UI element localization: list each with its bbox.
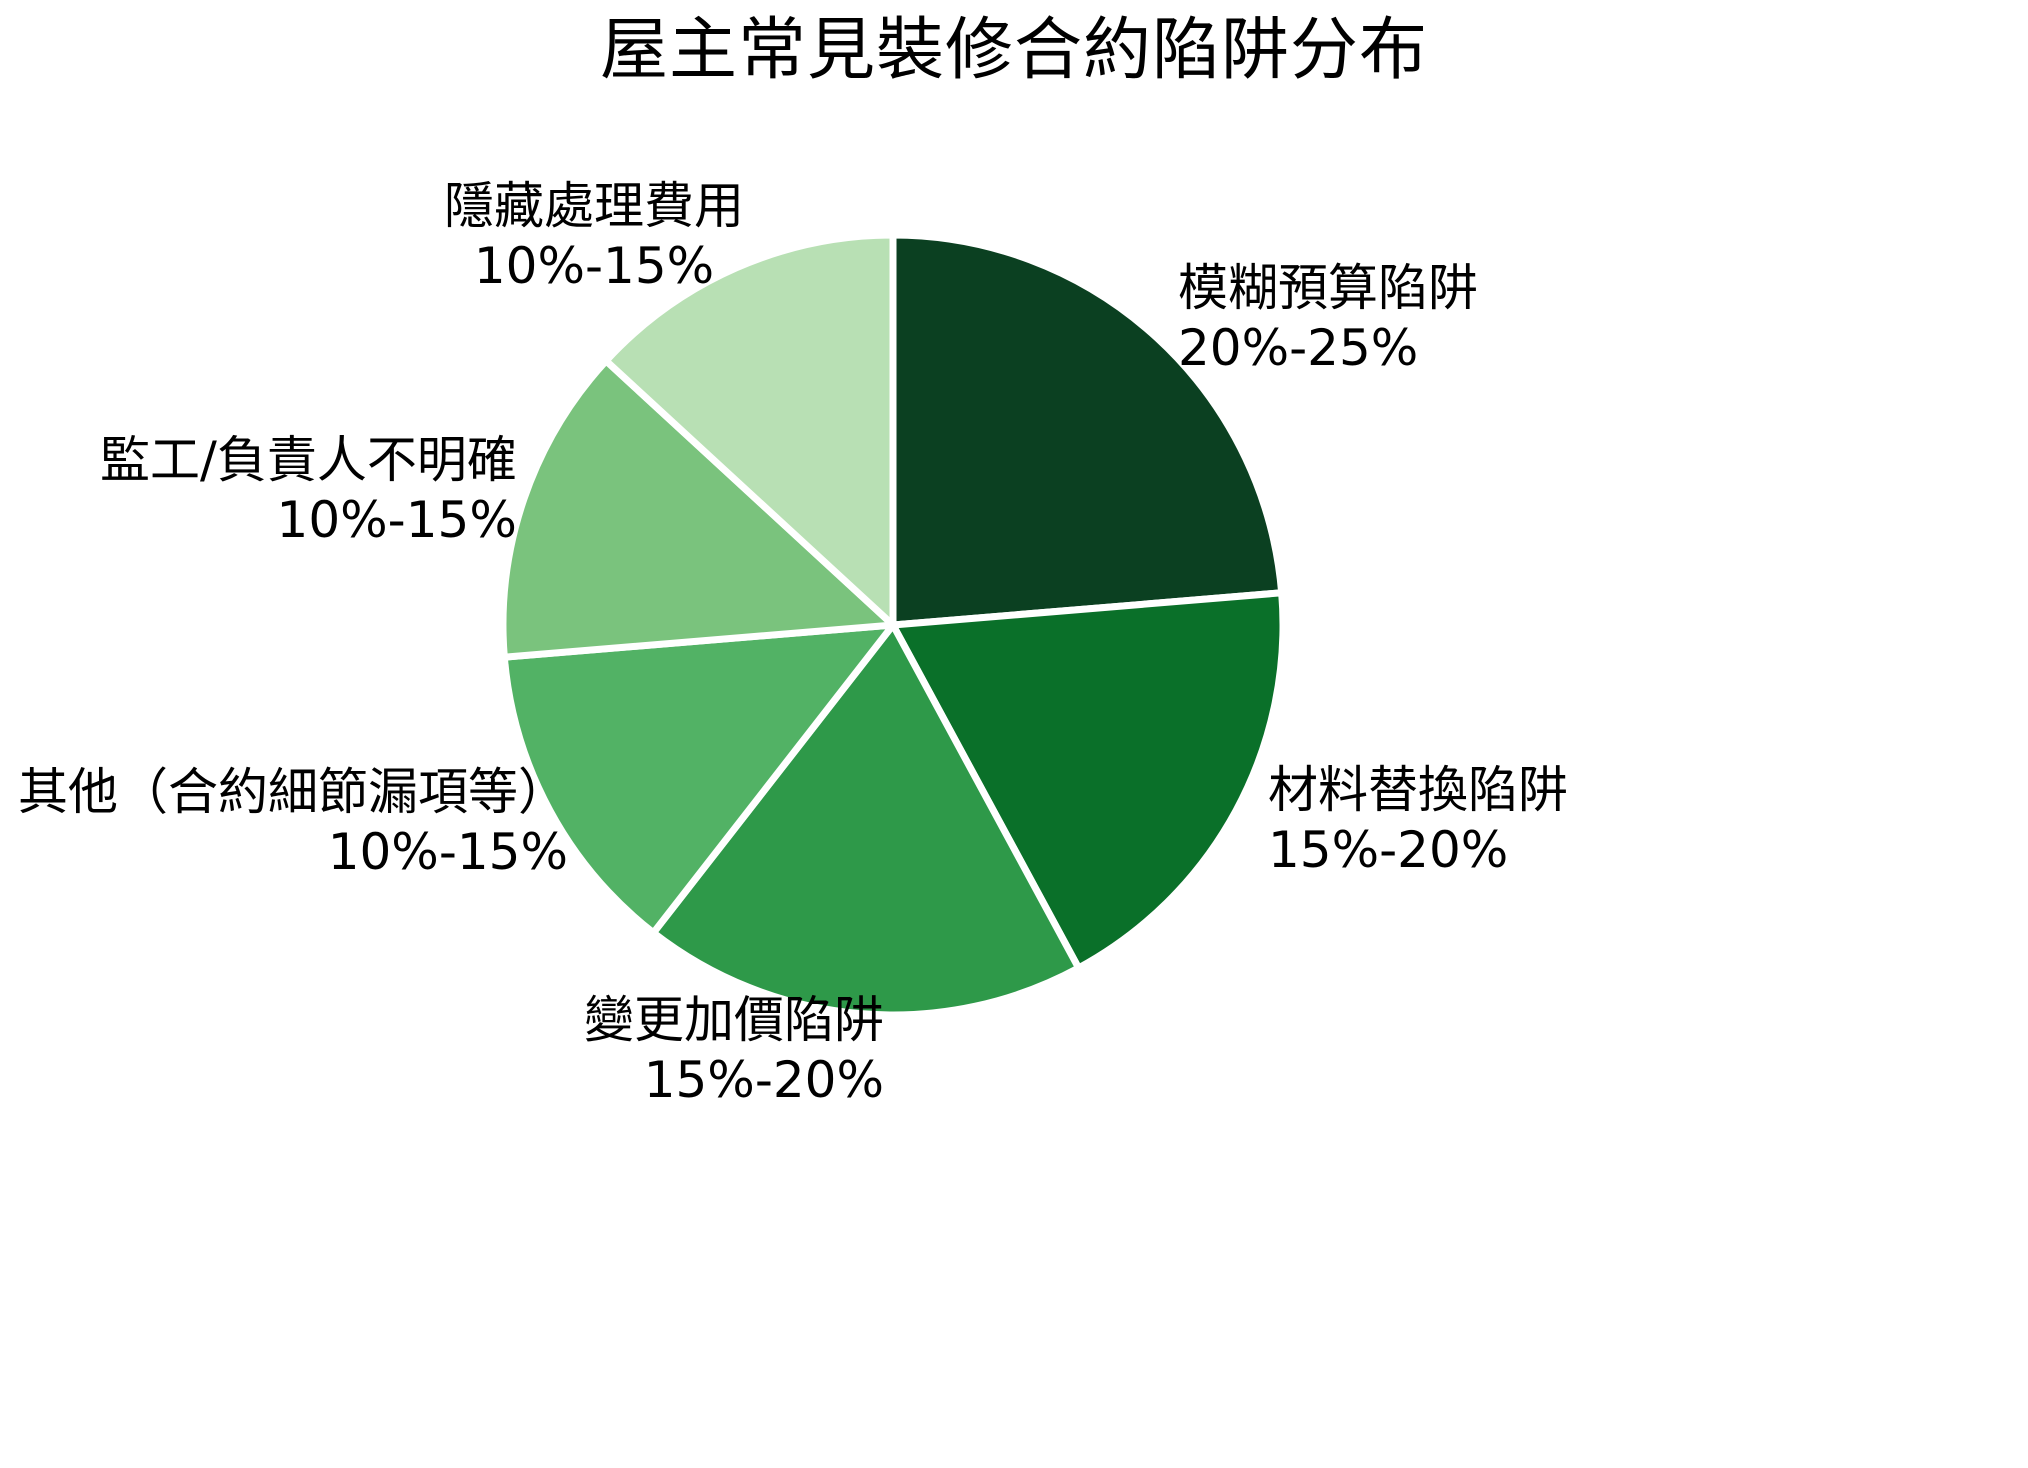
slice-label-模糊預算陷阱: 模糊預算陷阱 20%-25%	[1178, 258, 1478, 378]
pie-slice-group	[503, 235, 1283, 1015]
slice-label-其他: 其他（合約細節漏項等） 10%-15%	[18, 762, 568, 882]
slice-label-name: 其他（合約細節漏項等）	[18, 762, 568, 822]
slice-label-name: 材料替換陷阱	[1268, 760, 1568, 820]
slice-label-材料替換陷阱: 材料替換陷阱 15%-20%	[1268, 760, 1568, 880]
slice-label-name: 隱藏處理費用	[444, 176, 744, 236]
slice-label-隱藏處理費用: 隱藏處理費用 10%-15%	[444, 176, 744, 296]
slice-label-監工負責人不明確: 監工/負責人不明確 10%-15%	[100, 430, 517, 550]
slice-label-value: 15%-20%	[1268, 820, 1568, 880]
slice-label-變更加價陷阱: 變更加價陷阱 15%-20%	[584, 990, 884, 1110]
slice-label-name: 監工/負責人不明確	[100, 430, 517, 490]
slice-label-value: 15%-20%	[584, 1050, 884, 1110]
slice-label-value: 20%-25%	[1178, 318, 1478, 378]
slice-label-name: 變更加價陷阱	[584, 990, 884, 1050]
slice-label-name: 模糊預算陷阱	[1178, 258, 1478, 318]
pie-chart-figure: 屋主常見裝修合約陷阱分布 模糊預算陷阱 20%-25% 材料替換陷阱 15%-2…	[0, 0, 2028, 1468]
slice-label-value: 10%-15%	[100, 490, 517, 550]
pie-chart-canvas	[0, 0, 2028, 1468]
slice-label-value: 10%-15%	[18, 822, 568, 882]
slice-label-value: 10%-15%	[444, 236, 744, 296]
